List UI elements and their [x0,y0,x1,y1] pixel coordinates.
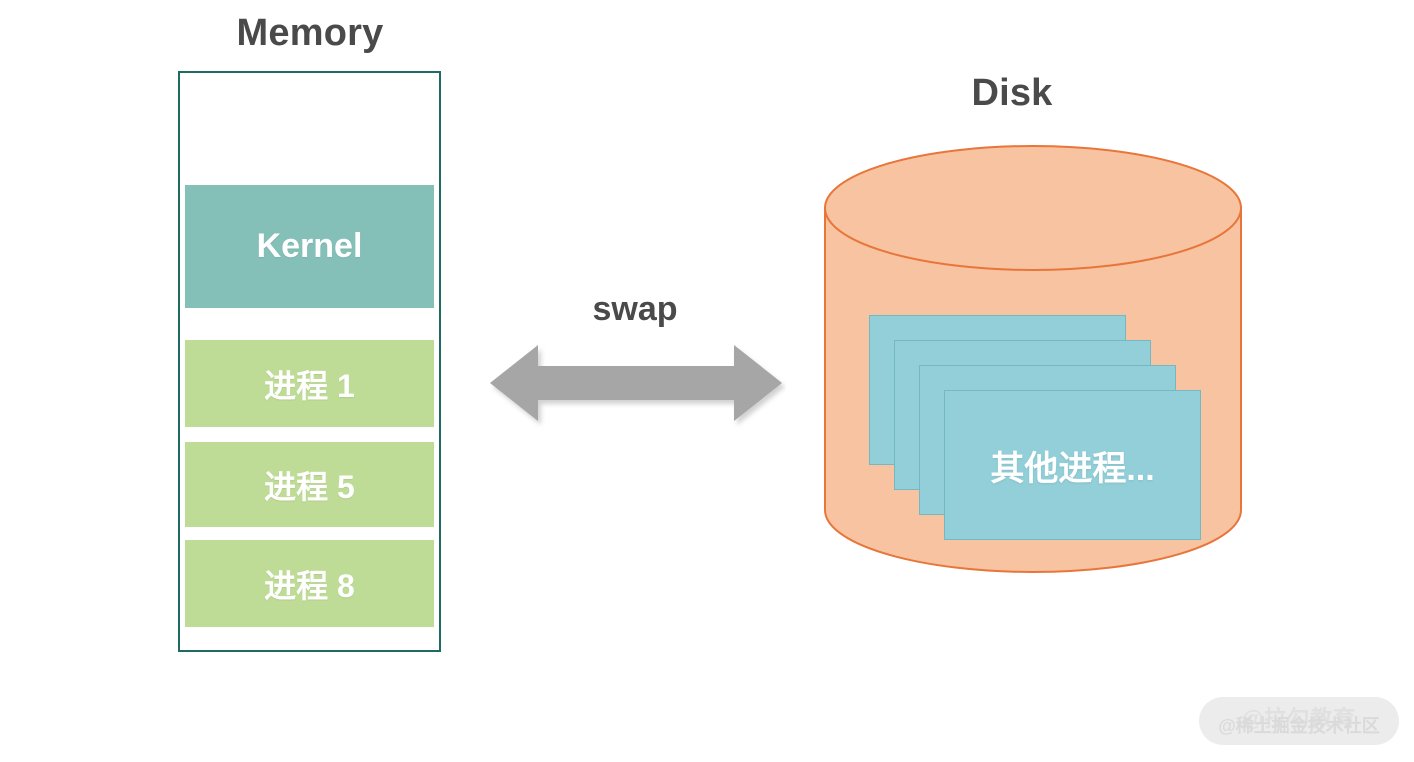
swap-double-arrow-icon [486,338,786,428]
memory-block-label: 进程 8 [264,561,355,607]
watermark-badge: @拉勾教育 @稀土掘金技术社区 [1199,697,1399,745]
memory-block-process-8: 进程 8 [185,540,434,627]
memory-block-label: Kernel [257,227,363,266]
memory-title: Memory [130,10,490,56]
memory-block-process-5: 进程 5 [185,442,434,527]
memory-block-label: 进程 5 [264,462,355,508]
memory-block-label: 进程 1 [264,361,355,407]
memory-block-process-1: 进程 1 [185,340,434,427]
swap-label: swap [505,290,765,329]
disk-process-card-front: 其他进程... [944,390,1201,540]
watermark-secondary-text: @稀土掘金技术社区 [1199,712,1399,738]
memory-box: Kernel 进程 1 进程 5 进程 8 [178,71,441,652]
diagram-canvas: Memory Kernel 进程 1 进程 5 进程 8 swap Disk [0,0,1414,762]
disk-process-card-label: 其他进程... [990,441,1154,490]
disk-title: Disk [832,70,1192,116]
disk-process-card-stack: 其他进程... [860,305,1220,505]
memory-block-kernel: Kernel [185,185,434,308]
